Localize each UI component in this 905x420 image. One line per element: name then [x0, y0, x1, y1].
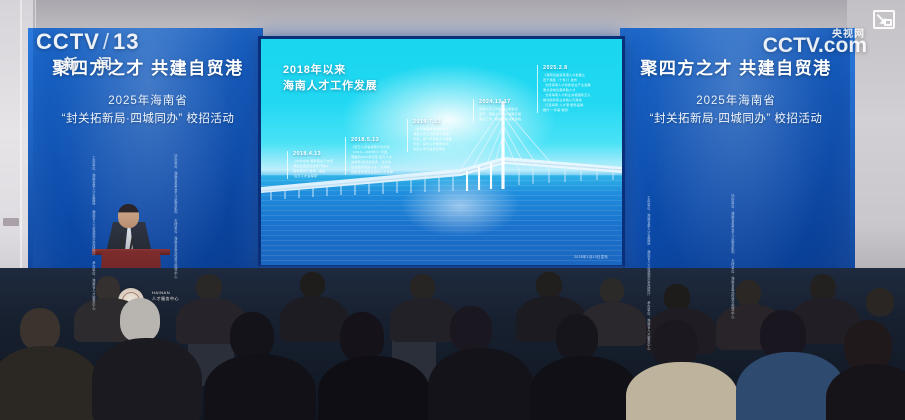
timeline-entry: 2025.2.8 《海南自由贸易港人才发展之 若干措施（十条）》发布 · 支持海… [537, 65, 591, 113]
slide-footer: 2025年1月13日发布 [574, 254, 608, 259]
timeline-body: 《百万人才进海南行动计划 （2018—2025年）》印发， 明确到2025年实现… [351, 145, 393, 175]
speaker-head [118, 204, 139, 228]
audience-shoulders [318, 356, 430, 420]
audience-head [340, 312, 384, 362]
channel-number: 13 [113, 29, 139, 54]
audience-head [536, 272, 562, 298]
cctv-com-chinese: 央视网 [832, 25, 865, 40]
audience-shoulders [204, 354, 316, 420]
cctv-logo-row: CCTV/13 [36, 30, 140, 54]
audience-head [196, 274, 222, 300]
audience-head [810, 274, 836, 301]
audience-head [736, 280, 761, 306]
pip-inner-box [884, 19, 892, 26]
audience-head [450, 306, 492, 352]
audience-shoulders [280, 296, 348, 342]
banner-subtitle-left-1: 2025年海南省 [33, 92, 263, 108]
audience-head [664, 284, 690, 311]
audience-head [20, 308, 60, 350]
picture-in-picture-icon[interactable] [873, 10, 895, 29]
presentation-screen-frame: 2018年以来 海南人才工作发展 2018.4.13 《中共中央 国务院关于支持… [258, 36, 625, 268]
banner-credits-left-2: 协办单位：海南省各市县人才服务机构 支持单位：海南省各高校就业指导中心 [173, 154, 177, 196]
audience-shoulders [92, 338, 202, 420]
audience-head [600, 278, 624, 303]
timeline-entry: 2018.5.13 《百万人才进海南行动计划 （2018—2025年）》印发， … [345, 137, 393, 175]
channel-name: 新 闻 [36, 54, 140, 74]
logo-slash: / [103, 29, 110, 54]
cctv-wordmark: CCTV [36, 29, 100, 54]
timeline-body: 《海南自由贸易港人才发展之 若干措施（十条）》发布 · 支持海南人才创新创业产业… [543, 73, 591, 113]
broadcast-frame: 聚四方之才 共建自贸港 2025年海南省 “封关拓新局·四城同办” 校招活动 主… [0, 0, 905, 420]
audience-shoulders [390, 298, 458, 342]
channel-logo: CCTV/13 新 闻 [36, 30, 140, 74]
audience-shoulders [428, 348, 534, 420]
audience-head [652, 320, 698, 368]
audience-shoulders [626, 362, 738, 420]
audience-head [300, 272, 325, 297]
presentation-slide: 2018年以来 海南人才工作发展 2018.4.13 《中共中央 国务院关于支持… [261, 39, 622, 265]
timeline-entry: 2024.12.17 省委人才工作领导小组会议 召开，部署人才强省战略实施 重点… [473, 99, 521, 122]
timeline-body: 省委人才工作领导小组会议 召开，部署人才强省战略实施 重点工作，推动人才政策落地 [479, 107, 521, 122]
cctv-com-watermark: CCTV.com 央视网 [763, 34, 867, 58]
banner-credits-right-2: 协办单位：海南省各市县人才服务机构 支持单位：海南省各高校就业指导中心 [730, 194, 734, 230]
banner-credits-right: 主办单位：海南省委人才发展局 海南省人力资源和社会保障厅 承办单位：海南省人才服… [646, 196, 650, 230]
banner-subtitle-right-1: 2025年海南省 [620, 92, 852, 108]
podium-side-text: HAINAN 人才服务中心 [152, 290, 179, 302]
audience-head [410, 274, 435, 300]
wall-vent [3, 218, 19, 226]
timeline-entry: 2019.7.23 《关于加强和改进新形势下 海南人才工作的若干措施》 印发，进… [407, 119, 452, 152]
audience-head [556, 314, 598, 360]
slide-title: 2018年以来 海南人才工作发展 [283, 63, 377, 95]
audience-head [120, 298, 160, 342]
audience-area: HAINAN 人才服务中心 [0, 268, 905, 420]
audience-head [230, 312, 274, 360]
audience-shoulders [530, 356, 638, 420]
banner-subtitle-left-2: “封关拓新局·四城同办” 校招活动 [33, 110, 263, 126]
timeline-body: 《中共中央 国务院关于支持 海南全面深化改革开放的 指导意见》发布，提出 “百万… [293, 159, 333, 179]
timeline-entry: 2018.4.13 《中共中央 国务院关于支持 海南全面深化改革开放的 指导意见… [287, 151, 333, 179]
banner-credits-left: 主办单位：海南省委人才发展局 海南省人力资源和社会保障厅 承办单位：海南省人才服… [91, 156, 95, 196]
audience-shoulders [0, 346, 100, 420]
audience-head [866, 288, 894, 316]
banner-subtitle-right-2: “封关拓新局·四城同办” 校招活动 [620, 110, 852, 126]
timeline-body: 《关于加强和改进新形势下 海南人才工作的若干措施》 印发，进一步优化人才发展 环… [413, 127, 452, 152]
